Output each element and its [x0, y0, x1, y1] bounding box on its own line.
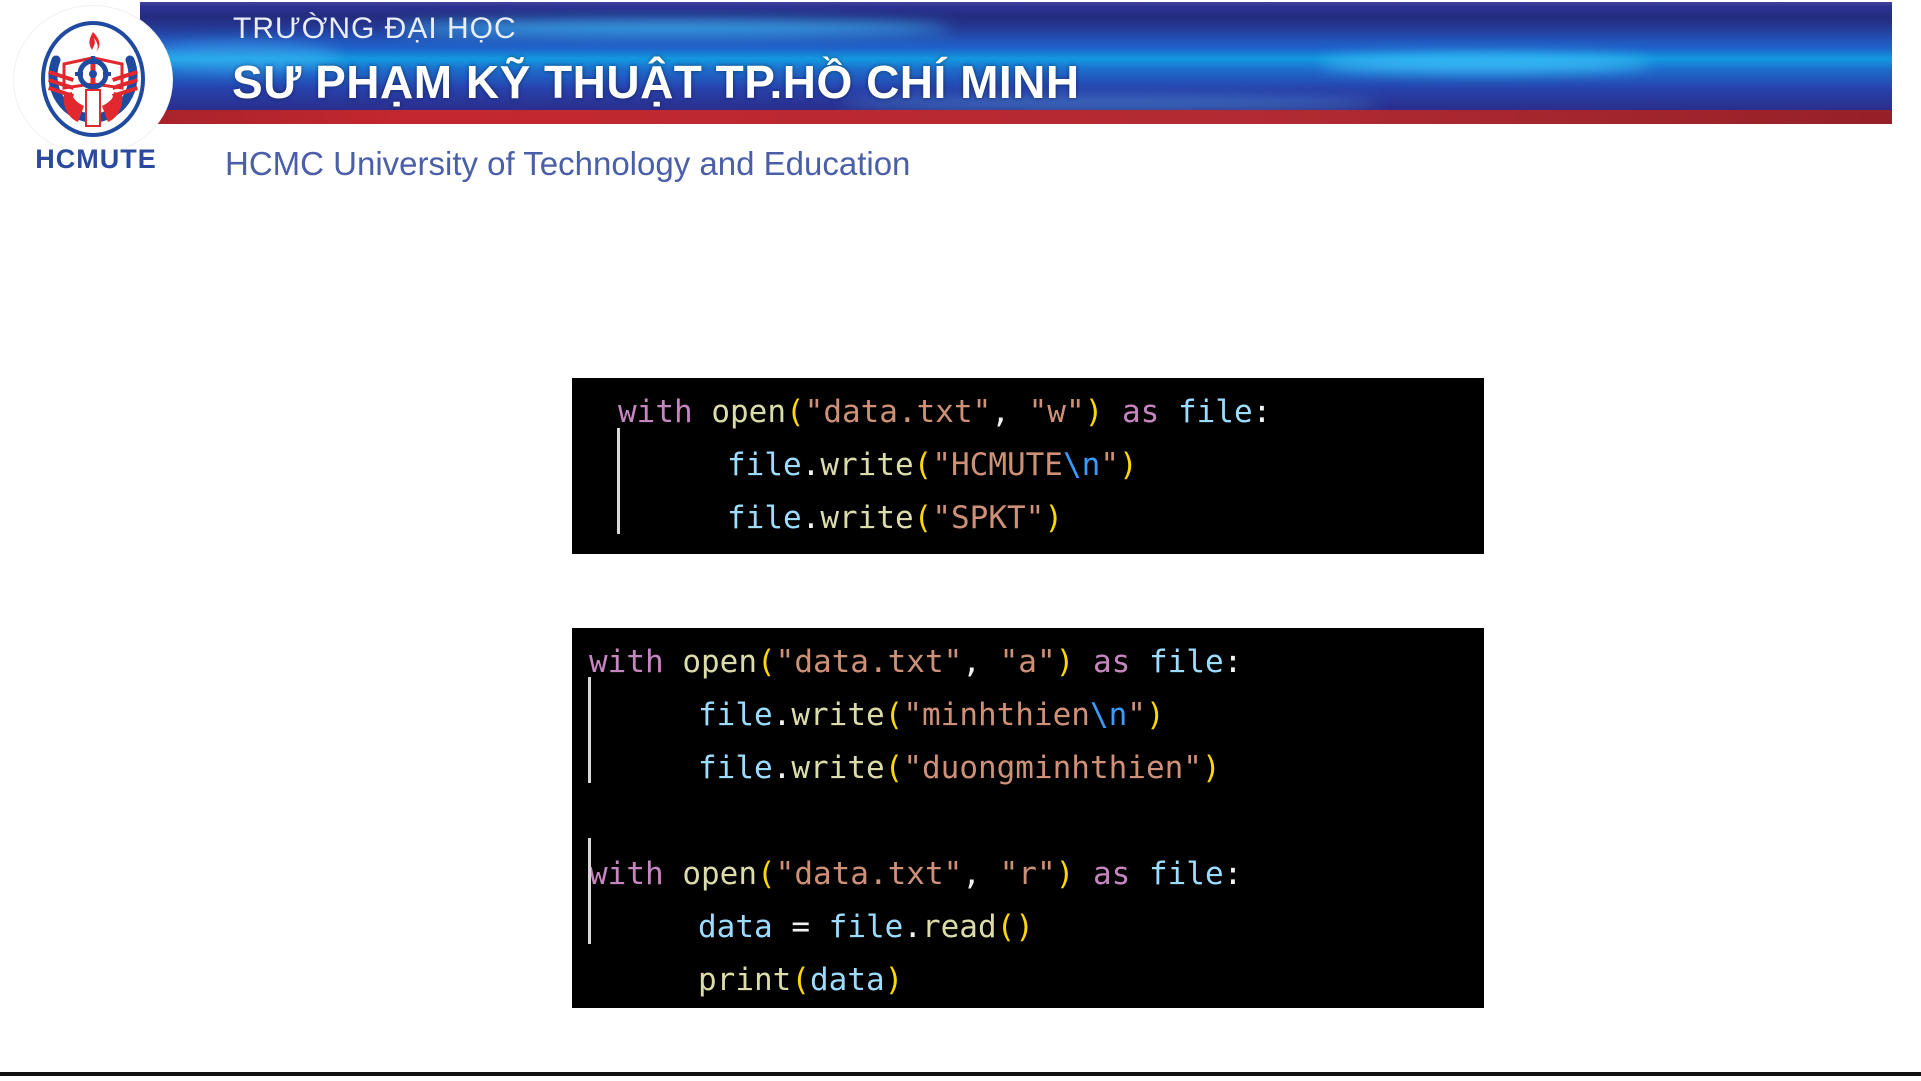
code-token-plain [664, 856, 683, 892]
code-token-fn: read [922, 909, 997, 945]
code-token-str: " [1100, 447, 1119, 483]
code-line: with open("data.txt", "r") as file: [572, 848, 1484, 901]
university-line-2: SƯ PHẠM KỸ THUẬT TP.HỒ CHÍ MINH [232, 55, 1080, 109]
code-token-plain: , [991, 394, 1028, 430]
code-token-paren: ) [1202, 750, 1221, 786]
code-token-paren: ) [1044, 500, 1063, 536]
university-subtitle-english: HCMC University of Technology and Educat… [225, 145, 910, 183]
code-token-var: file [1149, 856, 1224, 892]
code-token-fn: write [820, 500, 913, 536]
code-line: with open("data.txt", "a") as file: [572, 636, 1484, 689]
code-token-str: "a" [1000, 644, 1056, 680]
code-token-esc: \n [1090, 697, 1127, 733]
code-token-esc: \n [1063, 447, 1100, 483]
code-token-fn: open [682, 856, 757, 892]
code-token-str: "data.txt" [805, 394, 992, 430]
code-token-str: "r" [1000, 856, 1056, 892]
indent-guide [588, 677, 591, 783]
banner-light-streak-right [1320, 54, 1650, 73]
code-token-str: "w" [1029, 394, 1085, 430]
code-token-paren: ( [757, 856, 776, 892]
code-token-plain [1103, 394, 1122, 430]
code-token-paren: ( [791, 962, 810, 998]
code-token-var: data [698, 909, 773, 945]
code-line: data = file.read() [572, 901, 1484, 954]
code-token-str: "data.txt" [776, 856, 963, 892]
code-token-kw: as [1122, 394, 1159, 430]
code-token-str: "HCMUTE [932, 447, 1063, 483]
code-token-plain: . [773, 697, 792, 733]
indent-guide [588, 838, 591, 944]
indent-guide [617, 428, 620, 534]
code-token-plain [1130, 644, 1149, 680]
code-block-write-mode: with open("data.txt", "w") as file:file.… [572, 378, 1484, 554]
code-token-kw: as [1093, 644, 1130, 680]
code-token-plain: , [962, 856, 999, 892]
code-token-var: file [1178, 394, 1253, 430]
code-token-plain: : [1224, 644, 1243, 680]
code-token-plain: . [802, 447, 821, 483]
code-token-kw: with [618, 394, 693, 430]
code-line: file.write("SPKT") [572, 492, 1484, 545]
slide-bottom-rule [0, 1072, 1921, 1076]
code-token-plain [1159, 394, 1178, 430]
header-red-stripe [148, 110, 1892, 124]
code-token-paren: ) [1146, 697, 1165, 733]
code-token-plain [664, 644, 683, 680]
code-token-var: file [727, 500, 802, 536]
code-line: file.write("HCMUTE\n") [572, 439, 1484, 492]
code-line: with open("data.txt", "w") as file: [572, 386, 1484, 439]
code-token-str: "SPKT" [932, 500, 1044, 536]
code-token-fn: write [820, 447, 913, 483]
code-token-var: file [698, 750, 773, 786]
code-token-fn: open [711, 394, 786, 430]
code-token-plain: : [1224, 856, 1243, 892]
logo-wordmark: HCMUTE [18, 144, 174, 175]
code-token-str: "data.txt" [776, 644, 963, 680]
code-token-plain [1130, 856, 1149, 892]
code-token-plain: : [1253, 394, 1272, 430]
code-token-paren: () [997, 909, 1034, 945]
code-line: print(data) [572, 954, 1484, 1007]
code-token-fn: open [682, 644, 757, 680]
code-token-var: file [698, 697, 773, 733]
university-line-1: TRƯỜNG ĐẠI HỌC [233, 12, 517, 46]
code-token-plain: . [773, 750, 792, 786]
code-token-plain [1074, 644, 1093, 680]
code-token-paren: ) [1119, 447, 1138, 483]
code-token-plain [693, 394, 712, 430]
code-token-paren: ( [914, 500, 933, 536]
hcmute-logo: HCMUTE [6, 6, 186, 191]
code-token-paren: ( [786, 394, 805, 430]
code-line-blank [572, 795, 1484, 848]
code-token-str: "duongminhthien" [903, 750, 1202, 786]
code-token-kw: with [589, 856, 664, 892]
code-token-plain: . [903, 909, 922, 945]
code-token-paren: ) [1056, 644, 1075, 680]
code-token-plain: . [802, 500, 821, 536]
code-line: file.write("duongminhthien") [572, 742, 1484, 795]
code-token-fn: write [791, 750, 884, 786]
code-token-paren: ( [885, 750, 904, 786]
code-token-paren: ( [914, 447, 933, 483]
code-token-plain [1074, 856, 1093, 892]
code-token-fn: print [698, 962, 791, 998]
code-token-paren: ( [885, 697, 904, 733]
code-token-paren: ( [757, 644, 776, 680]
code-token-paren: ) [1056, 856, 1075, 892]
slide-header: TRƯỜNG ĐẠI HỌC SƯ PHẠM KỸ THUẬT TP.HỒ CH… [0, 0, 1921, 200]
code-block-append-and-read: with open("data.txt", "a") as file:file.… [572, 628, 1484, 1008]
code-token-str: "minhthien [903, 697, 1090, 733]
code-token-kw: as [1093, 856, 1130, 892]
code-token-plain: , [962, 644, 999, 680]
code-token-var: file [727, 447, 802, 483]
code-token-str: " [1127, 697, 1146, 733]
code-token-kw: with [589, 644, 664, 680]
hcmute-emblem-icon [34, 20, 152, 138]
code-token-paren: ) [1085, 394, 1104, 430]
code-line: file.write("minhthien\n") [572, 689, 1484, 742]
code-token-var: data [810, 962, 885, 998]
code-token-fn: write [791, 697, 884, 733]
code-token-var: file [1149, 644, 1224, 680]
code-token-var: file [829, 909, 904, 945]
code-token-plain: = [773, 909, 829, 945]
code-token-paren: ) [885, 962, 904, 998]
